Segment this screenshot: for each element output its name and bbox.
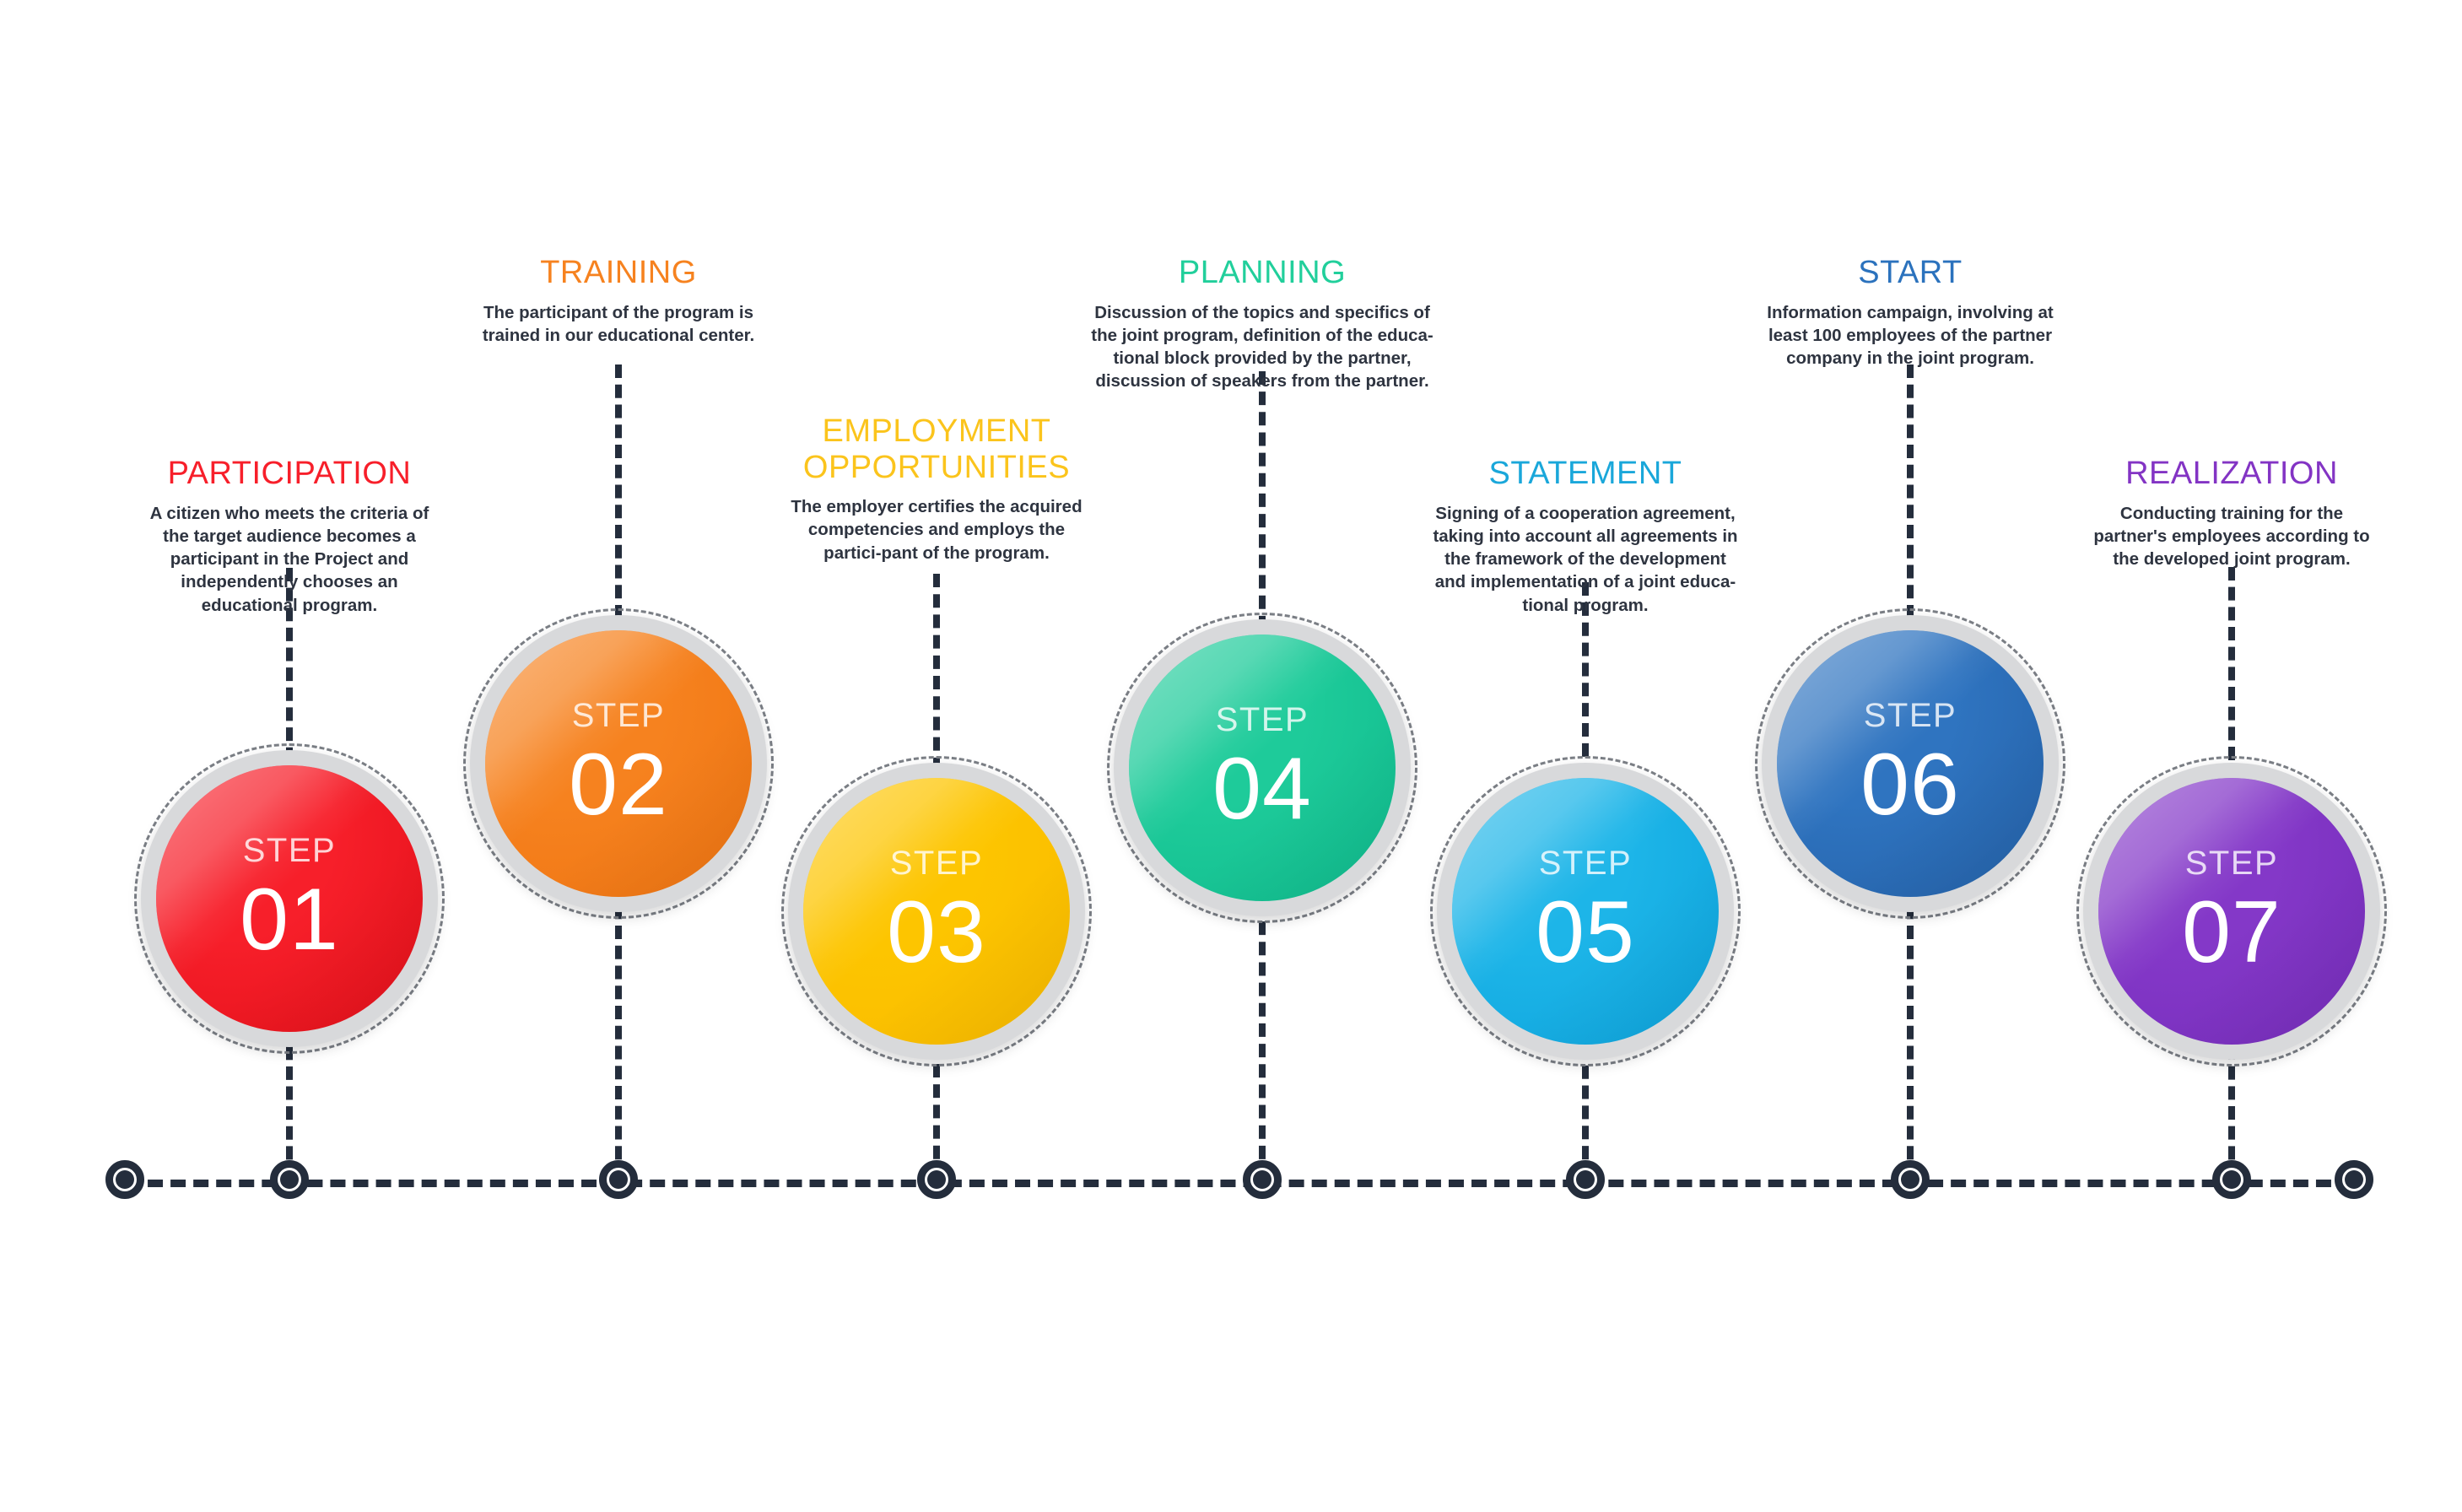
caption-body: The employer certifies the acquired comp… <box>785 495 1088 564</box>
caption-body: Discussion of the topics and specifics o… <box>1089 301 1435 393</box>
caption-body: Information campaign, involving at least… <box>1765 301 2056 370</box>
timeline-node[interactable] <box>1566 1160 1605 1199</box>
timeline-node[interactable] <box>1891 1160 1930 1199</box>
timeline-node-dot <box>2222 1170 2241 1189</box>
timeline-node[interactable] <box>270 1160 309 1199</box>
caption-title: START <box>1741 255 2079 291</box>
timeline-node-dot <box>609 1170 628 1189</box>
step-word-label: STEP <box>1864 699 1957 732</box>
timeline-node-dot <box>1576 1170 1595 1189</box>
step-number: 05 <box>1536 888 1635 976</box>
caption-step-3: EMPLOYMENT OPPORTUNITIES The employer ce… <box>768 413 1105 564</box>
step-word-label: STEP <box>2185 846 2278 880</box>
step-number: 02 <box>569 741 668 829</box>
timeline-node-dot <box>1901 1170 1919 1189</box>
infographic-canvas: PARTICIPATION A citizen who meets the cr… <box>0 0 2462 1512</box>
caption-title: STATEMENT <box>1417 456 1754 492</box>
caption-body: A citizen who meets the criteria of the … <box>138 502 441 617</box>
step-number: 06 <box>1860 741 1960 829</box>
step-number: 04 <box>1212 745 1312 833</box>
timeline-axis <box>125 1180 2354 1187</box>
step-number: 03 <box>887 888 986 976</box>
step-disc[interactable]: STEP 03 <box>803 778 1070 1045</box>
caption-title: PLANNING <box>1085 255 1439 291</box>
step-word-label: STEP <box>572 699 665 732</box>
timeline-node-dot <box>1253 1170 1271 1189</box>
step-word-label: STEP <box>890 846 983 880</box>
timeline-node[interactable] <box>599 1160 638 1199</box>
caption-title: PARTICIPATION <box>125 456 454 492</box>
caption-body: Conducting training for the partner's em… <box>2084 502 2379 571</box>
step-disc[interactable]: STEP 07 <box>2098 778 2365 1045</box>
caption-body: The participant of the program is traine… <box>475 301 762 348</box>
timeline-node-dot <box>927 1170 946 1189</box>
caption-body: Signing of a cooperation agreement, taki… <box>1429 502 1741 617</box>
caption-step-6: START Information campaign, involving at… <box>1741 255 2079 370</box>
timeline-node-dot <box>116 1170 134 1189</box>
caption-title: REALIZATION <box>2063 456 2400 492</box>
step-word-label: STEP <box>243 834 336 867</box>
timeline-node[interactable] <box>1243 1160 1282 1199</box>
caption-step-4: PLANNING Discussion of the topics and sp… <box>1085 255 1439 393</box>
caption-step-2: TRAINING The participant of the program … <box>450 255 787 347</box>
caption-step-5: STATEMENT Signing of a cooperation agree… <box>1417 456 1754 617</box>
timeline-node[interactable] <box>105 1160 144 1199</box>
step-disc[interactable]: STEP 06 <box>1777 630 2044 897</box>
timeline-node-dot <box>2345 1170 2363 1189</box>
step-word-label: STEP <box>1539 846 1632 880</box>
step-disc[interactable]: STEP 01 <box>156 765 423 1032</box>
step-number: 01 <box>240 876 339 964</box>
step-disc[interactable]: STEP 02 <box>485 630 752 897</box>
timeline-node[interactable] <box>2335 1160 2373 1199</box>
step-disc[interactable]: STEP 04 <box>1129 634 1396 901</box>
caption-step-7: REALIZATION Conducting training for the … <box>2063 456 2400 570</box>
timeline-node[interactable] <box>2212 1160 2251 1199</box>
caption-step-1: PARTICIPATION A citizen who meets the cr… <box>125 456 454 617</box>
caption-title: EMPLOYMENT OPPORTUNITIES <box>785 413 1088 485</box>
step-number: 07 <box>2182 888 2281 976</box>
timeline-node[interactable] <box>917 1160 956 1199</box>
timeline-node-dot <box>280 1170 299 1189</box>
step-disc[interactable]: STEP 05 <box>1452 778 1719 1045</box>
step-word-label: STEP <box>1216 703 1309 737</box>
caption-title: TRAINING <box>450 255 787 291</box>
